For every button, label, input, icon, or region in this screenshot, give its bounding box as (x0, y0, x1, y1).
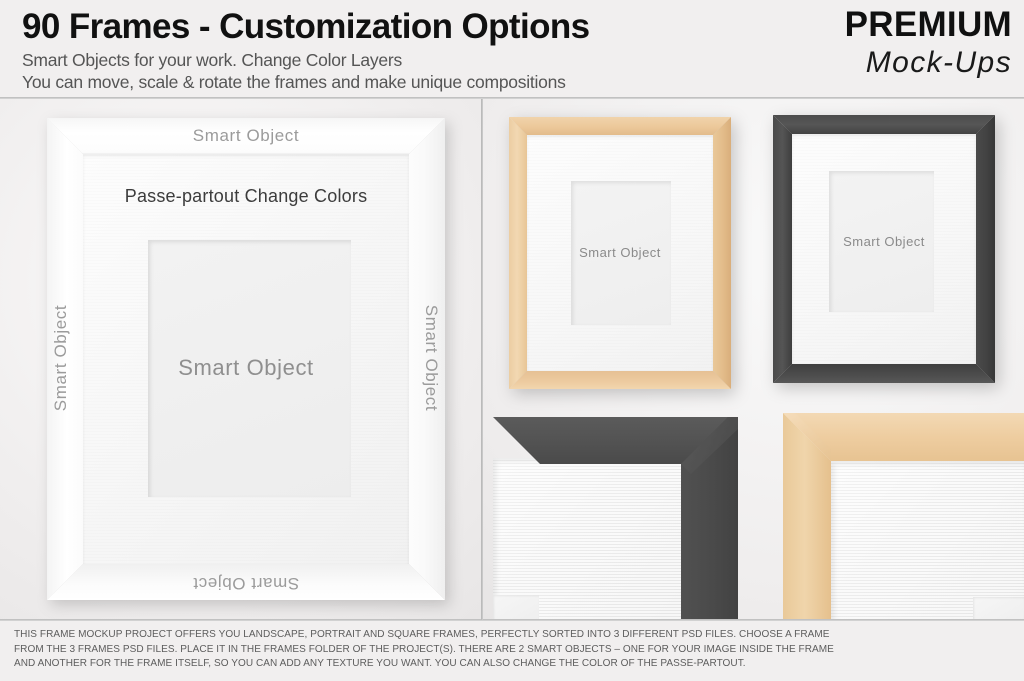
page-title: 90 Frames - Customization Options (22, 6, 782, 48)
brand-mockups-label: Mock-Ups (782, 45, 1012, 81)
brand-block: PREMIUM Mock-Ups (782, 4, 1012, 81)
footer-line-1: THIS FRAME MOCKUP PROJECT OFFERS YOU LAN… (14, 628, 995, 643)
dark-frame-moulding-left (773, 115, 792, 383)
dark-corner-frame[interactable] (483, 411, 738, 620)
wood-frame[interactable]: Smart Object (509, 117, 731, 389)
wood-frame-moulding-bottom (509, 371, 731, 389)
wood-corner-frame[interactable] (775, 407, 1024, 620)
dark-frame-moulding-top (773, 115, 995, 134)
subtitle-line-1: Smart Objects for your work. Change Colo… (22, 49, 782, 71)
wood-frame-label: Smart Object (509, 245, 731, 260)
big-white-frame[interactable]: Smart Object Smart Object Smart Object S… (47, 118, 445, 600)
wood-frame-moulding-left (509, 117, 527, 389)
big-frame-label-bottom: Smart Object (47, 573, 445, 593)
panel-vertical-divider (481, 99, 483, 620)
header: 90 Frames - Customization Options Smart … (0, 0, 1024, 99)
big-frame-label-center: Smart Object (83, 355, 409, 381)
header-text-block: 90 Frames - Customization Options Smart … (22, 6, 782, 93)
footer: THIS FRAME MOCKUP PROJECT OFFERS YOU LAN… (0, 621, 1024, 681)
dark-frame-moulding-bottom (773, 364, 995, 383)
passe-partout-label: Passe-partout Change Colors (83, 186, 409, 207)
wood-frame-moulding-top (509, 117, 731, 135)
big-frame-label-left: Smart Object (51, 258, 71, 458)
dark-frame[interactable]: Smart Object (773, 115, 995, 383)
big-frame-label-top: Smart Object (47, 126, 445, 146)
footer-line-3: AND ANOTHER FOR THE FRAME ITSELF, SO YOU… (14, 657, 995, 672)
right-panel-content: Smart Object Smart Object (483, 99, 1024, 620)
footer-line-2: FROM THE 3 FRAMES PSD FILES. PLACE IT IN… (14, 643, 995, 658)
wood-frame-moulding-right (713, 117, 731, 389)
big-frame-label-right: Smart Object (421, 258, 441, 458)
subtitle-line-2: You can move, scale & rotate the frames … (22, 71, 782, 93)
frames-stage: Smart Object Smart Object Smart Object S… (0, 99, 1024, 620)
brand-premium-label: PREMIUM (782, 4, 1012, 45)
wood-corner-chip (973, 597, 1024, 620)
dark-frame-label: Smart Object (773, 234, 995, 249)
dark-corner-chip (493, 595, 539, 620)
dark-frame-moulding-right (976, 115, 995, 383)
mockup-preview-page: 90 Frames - Customization Options Smart … (0, 0, 1024, 681)
